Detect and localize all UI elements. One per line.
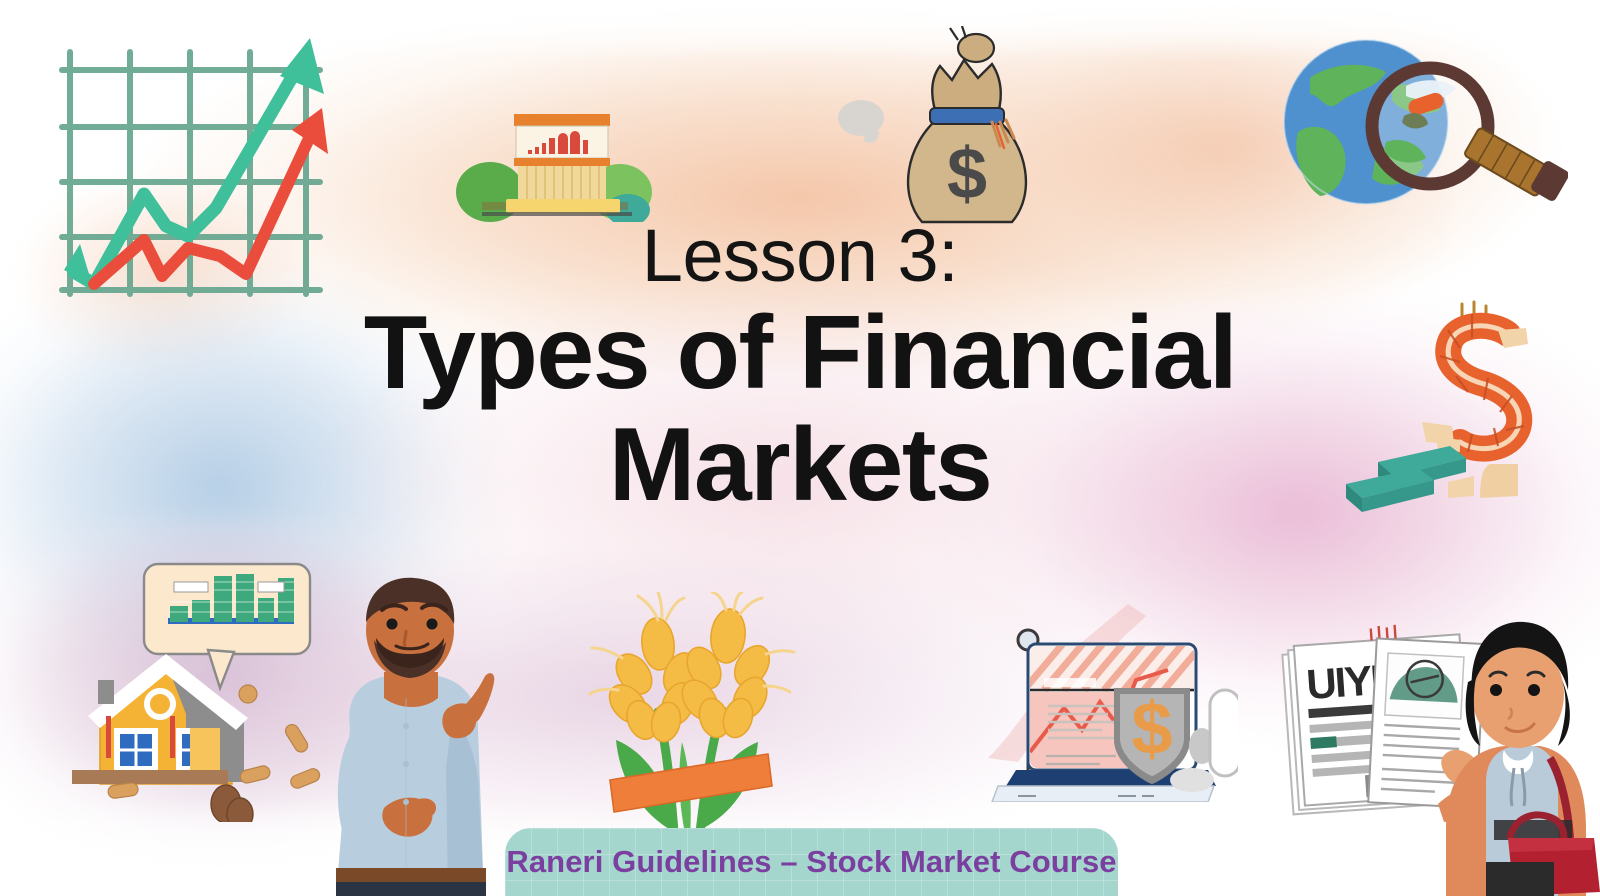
wheat-commodity-illustration [582, 592, 802, 842]
course-footer-banner: Raneri Guidelines – Stock Market Course [505, 828, 1118, 896]
speech-bubble-icon [838, 100, 884, 136]
laptop-security-shield-illustration: $ [958, 540, 1238, 802]
globe-magnifier-illustration [1268, 34, 1568, 234]
title-block: Lesson 3: Types of Financial Markets [300, 218, 1300, 522]
money-bag-illustration: $ [892, 26, 1042, 226]
title-line-2: Markets [300, 409, 1300, 521]
lesson-label: Lesson 3: [300, 218, 1300, 295]
svg-text:$: $ [947, 134, 987, 214]
slide-canvas: $ [0, 0, 1600, 896]
course-footer-label: Raneri Guidelines – Stock Market Course [506, 844, 1116, 880]
woman-with-newspaper-illustration: UIYLD [1262, 582, 1600, 896]
stock-exchange-building-illustration [452, 52, 652, 222]
man-pointing-illustration [288, 568, 512, 896]
line-chart-arrows-illustration [48, 22, 338, 312]
dollar-brick-construction-illustration [1302, 286, 1600, 526]
page-title: Types of Financial Markets [300, 297, 1300, 522]
title-line-1: Types of Financial [300, 297, 1300, 409]
svg-text:$: $ [1131, 687, 1172, 770]
